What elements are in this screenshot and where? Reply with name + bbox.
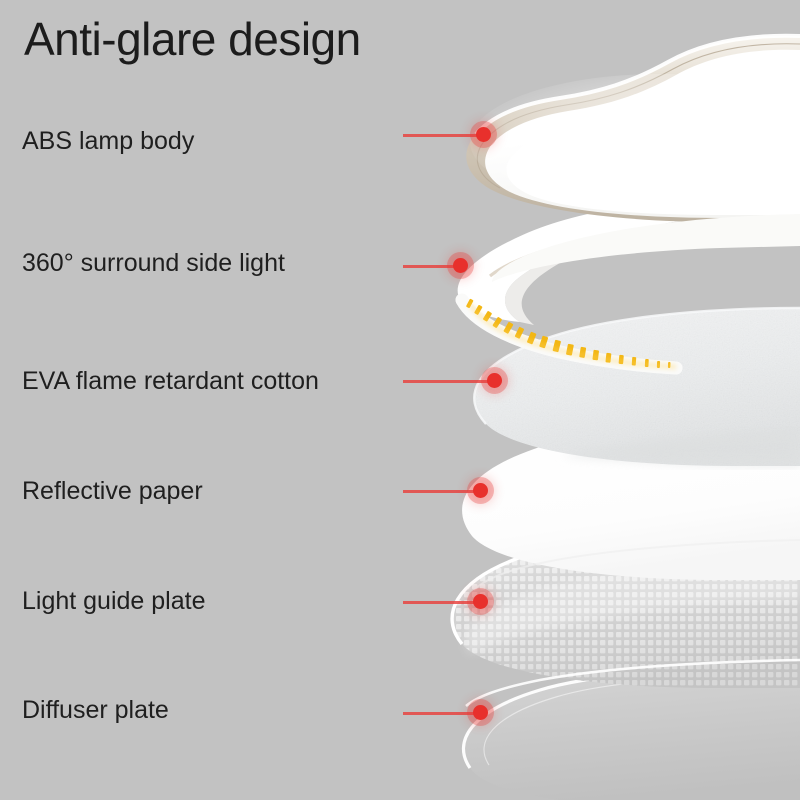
callout-dot-diffuser-plate	[473, 705, 488, 720]
callout-label-eva-cotton: EVA flame retardant cotton	[22, 367, 319, 396]
callout-dot-eva-cotton	[487, 373, 502, 388]
callout-line-diffuser-plate	[403, 712, 481, 715]
callout-line-light-guide-plate	[403, 601, 481, 604]
callout-label-abs-lamp-body: ABS lamp body	[22, 127, 194, 156]
callout-dot-reflective-paper	[473, 483, 488, 498]
callout-dot-light-guide-plate	[473, 594, 488, 609]
callout-label-diffuser-plate: Diffuser plate	[22, 696, 169, 725]
product-infographic: Anti-glare design ABS lamp body 360° sur…	[0, 0, 800, 800]
callout-line-reflective-paper	[403, 490, 481, 493]
page-title: Anti-glare design	[24, 12, 361, 66]
callout-label-reflective-paper: Reflective paper	[22, 477, 203, 506]
exploded-lamp-illustration	[0, 0, 800, 800]
callout-line-abs-lamp-body	[403, 134, 485, 137]
layer-eva-cotton	[474, 308, 800, 466]
callout-dot-abs-lamp-body	[476, 127, 491, 142]
callout-label-surround-side-light: 360° surround side light	[22, 249, 285, 278]
callout-label-light-guide-plate: Light guide plate	[22, 587, 205, 616]
callout-dot-surround-side-light	[453, 258, 468, 273]
callout-line-eva-cotton	[403, 380, 495, 383]
